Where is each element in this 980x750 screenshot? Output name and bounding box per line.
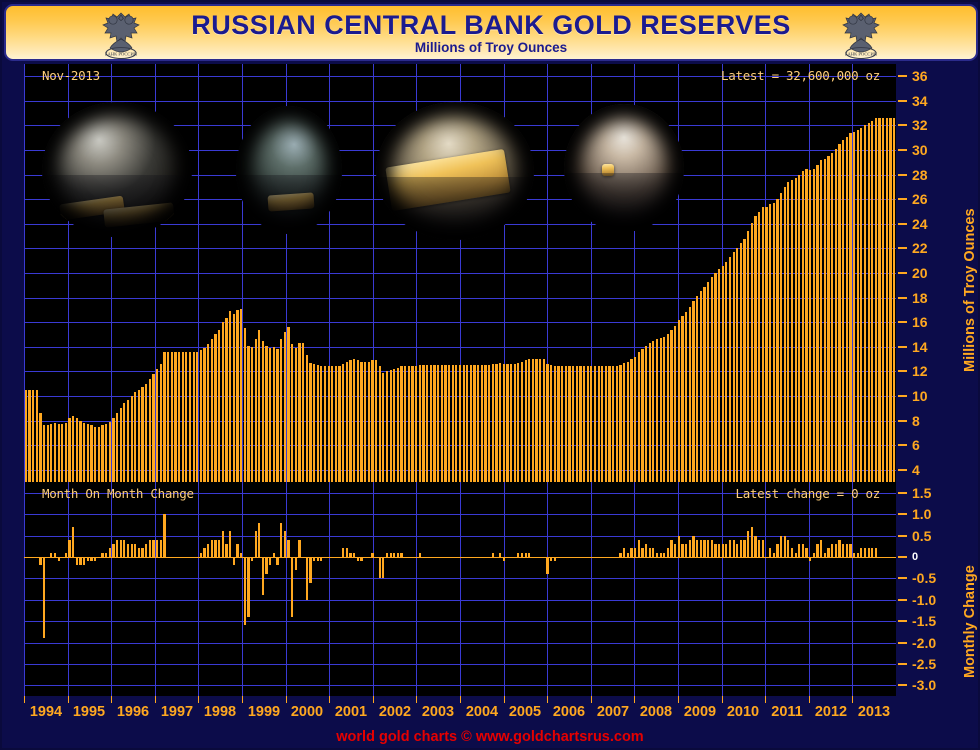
reserves-bar [229, 311, 231, 482]
reserves-bar [324, 366, 326, 482]
y-tick-mark [898, 444, 907, 446]
x-tick-mark [547, 696, 548, 703]
reserves-bar [886, 118, 888, 482]
monthly-change-bar [700, 540, 702, 557]
monthly-change-bar [229, 531, 231, 557]
reserves-bar [725, 262, 727, 482]
reserves-bar [346, 362, 348, 482]
reserves-bar [539, 359, 541, 482]
reserves-bar [565, 366, 567, 482]
reserves-bar [776, 199, 778, 482]
monthly-change-bar [703, 540, 705, 557]
y-tick-label: -3.0 [912, 677, 936, 693]
reserves-bar [608, 366, 610, 482]
monthly-change-bar [58, 557, 60, 561]
y-tick-label: 22 [912, 240, 928, 256]
monthly-change-bar [134, 544, 136, 557]
reserves-bar [160, 364, 162, 482]
monthly-change-bar [816, 544, 818, 557]
reserves-bar [740, 243, 742, 482]
reserves-bar [338, 366, 340, 482]
monthly-change-bar [820, 540, 822, 557]
reserves-bar [594, 366, 596, 482]
reserves-bar [287, 327, 289, 482]
reserves-bar [747, 231, 749, 482]
x-tick-label: 2009 [684, 704, 716, 720]
y-tick-mark [898, 100, 907, 102]
reserves-bar [265, 346, 267, 482]
reserves-bar [751, 223, 753, 482]
reserves-bar [765, 207, 767, 482]
monthly-change-bar [696, 540, 698, 557]
reserves-bar [718, 269, 720, 482]
monthly-change-bar [546, 557, 548, 574]
monthly-change-bar [776, 544, 778, 557]
x-tick-label: 1994 [30, 704, 62, 720]
reserves-bar [371, 360, 373, 482]
reserves-bar [495, 364, 497, 482]
reserves-bar [561, 366, 563, 482]
monthly-change-bar [152, 540, 154, 557]
monthly-change-bar [521, 553, 523, 557]
monthly-change-bar [718, 544, 720, 557]
monthly-change-bar [795, 553, 797, 557]
monthly-change-bar [853, 553, 855, 557]
reserves-bar [430, 365, 432, 482]
reserves-bar [68, 418, 70, 482]
monthly-change-bar [729, 540, 731, 557]
reserves-bar [893, 118, 895, 482]
reserves-bar [393, 369, 395, 482]
reserves-bar [630, 359, 632, 482]
monthly-change-bar [871, 548, 873, 557]
y-tick-label: 0 [912, 551, 918, 563]
monthly-change-bar [656, 553, 658, 557]
reserves-bar [805, 169, 807, 483]
reserves-bar [714, 273, 716, 482]
y-tick-label: 26 [912, 191, 928, 207]
monthly-change-bar [346, 548, 348, 557]
y-tick-label: 18 [912, 290, 928, 306]
x-tick-mark [24, 696, 25, 703]
reserves-bar [335, 366, 337, 482]
reserves-bar [43, 425, 45, 482]
x-tick-mark [155, 696, 156, 703]
reserves-bar [612, 366, 614, 482]
monthly-change-bar [685, 544, 687, 557]
reserves-bar [459, 365, 461, 482]
reserves-bar [703, 287, 705, 482]
monthly-change-bar [39, 557, 41, 566]
y-tick-label: 28 [912, 167, 928, 183]
monthly-change-bar [236, 544, 238, 557]
sub-panel-title: Month On Month Change [42, 486, 194, 501]
monthly-change-bar [638, 540, 640, 557]
reserves-bar [211, 339, 213, 482]
x-tick-label: 2011 [771, 704, 802, 720]
reserves-bar [645, 346, 647, 482]
reserves-bar [127, 400, 129, 482]
monthly-change-bar [141, 548, 143, 557]
reserves-bar [444, 365, 446, 482]
y-tick-label: -1.0 [912, 592, 936, 608]
monthly-change-bar [674, 544, 676, 557]
reserves-bar [452, 365, 454, 482]
monthly-change-bar [733, 540, 735, 557]
monthly-change-bar [525, 553, 527, 557]
monthly-change-bar [707, 540, 709, 557]
monthly-change-bar [244, 557, 246, 625]
reserves-bar [437, 365, 439, 482]
monthly-change-bars [24, 482, 896, 696]
monthly-change-bar [838, 540, 840, 557]
reserves-bar [152, 374, 154, 482]
monthly-change-bar [94, 557, 96, 561]
monthly-change-bar [769, 548, 771, 557]
monthly-change-bar [681, 544, 683, 557]
monthly-change-bar [670, 540, 672, 557]
reserves-bar [663, 337, 665, 482]
monthly-change-bar [207, 544, 209, 557]
y-tick-label: -2.0 [912, 635, 936, 651]
monthly-change-bar [306, 557, 308, 600]
page-title: RUSSIAN CENTRAL BANK GOLD RESERVES [6, 9, 976, 41]
y-tick-mark [898, 535, 907, 537]
monthly-change-bar [649, 548, 651, 557]
x-tick-label: 2012 [815, 704, 847, 720]
monthly-change-bar [627, 553, 629, 557]
reserves-bar [379, 366, 381, 482]
monthly-change-bar [780, 536, 782, 557]
reserves-bar [25, 390, 27, 482]
y-tick-mark [898, 297, 907, 299]
monthly-change-bar [120, 540, 122, 557]
reserves-bar [145, 384, 147, 482]
reserves-bar [455, 365, 457, 482]
reserves-bar [649, 343, 651, 482]
reserves-bar [616, 366, 618, 482]
reserves-bar [375, 360, 377, 482]
monthly-change-bar [645, 544, 647, 557]
y-tick-label: 4 [912, 462, 920, 478]
monthly-change-bar [295, 557, 297, 570]
y-tick-mark [898, 247, 907, 249]
latest-value-label: Latest = 32,600,000 oz [721, 68, 880, 83]
reserves-bar [90, 425, 92, 482]
reserves-bar [674, 326, 676, 482]
reserves-bar [284, 332, 286, 482]
x-tick-label: 1997 [161, 704, 193, 720]
x-tick-mark [416, 696, 417, 703]
reserves-bar [689, 307, 691, 482]
reserves-bar [65, 423, 67, 482]
reserves-bar [503, 364, 505, 482]
x-tick-mark [852, 696, 853, 703]
monthly-change-bar [87, 557, 89, 561]
y-tick-label: 32 [912, 117, 928, 133]
x-tick-label: 1998 [204, 704, 236, 720]
reserves-bar [214, 334, 216, 482]
y-tick-label: 0.5 [912, 528, 931, 544]
reserves-bar [83, 423, 85, 482]
latest-change-label: Latest change = 0 oz [735, 486, 880, 501]
monthly-change-bar [692, 536, 694, 557]
reserves-bar [174, 352, 176, 482]
reserves-bar [849, 133, 851, 482]
reserves-bar [736, 248, 738, 482]
x-tick-label: 2001 [335, 704, 367, 720]
y-axis-title-monthly-change: Monthly Change [962, 538, 978, 678]
reserves-bar [298, 343, 300, 482]
monthly-change-bar [145, 544, 147, 557]
x-tick-label: 2004 [466, 704, 498, 720]
x-tick-label: 1999 [248, 704, 280, 720]
svg-text:БАНК РОССИИ: БАНК РОССИИ [845, 52, 878, 57]
y-tick-mark [898, 370, 907, 372]
reserves-bar [79, 421, 81, 482]
reserves-bar [276, 349, 278, 482]
x-tick-label: 1995 [73, 704, 105, 720]
y-tick-mark [898, 642, 907, 644]
y-tick-mark [898, 198, 907, 200]
reserves-bar [619, 365, 621, 482]
reserves-bar [280, 339, 282, 482]
reserves-bar [473, 365, 475, 482]
monthly-change-bar [714, 544, 716, 557]
monthly-change-bar [233, 557, 235, 566]
reserves-bar [546, 364, 548, 482]
monthly-change-bar [156, 540, 158, 557]
reserves-bar [634, 357, 636, 482]
x-tick-mark [111, 696, 112, 703]
reserves-bar [499, 363, 501, 482]
monthly-change-bar [623, 548, 625, 557]
reserves-bar [295, 348, 297, 482]
monthly-change-bar [360, 557, 362, 561]
y-tick-label: 30 [912, 142, 928, 158]
reserves-bar [364, 362, 366, 482]
x-tick-mark [198, 696, 199, 703]
plot-area: Nov-2013 Latest = 32,600,000 oz Month On… [24, 64, 896, 696]
reserves-bar [313, 364, 315, 482]
reserves-bar [838, 144, 840, 482]
reserves-bar [791, 180, 793, 482]
reserves-bar [138, 390, 140, 482]
reserves-bar [795, 178, 797, 482]
reserves-bar [291, 344, 293, 482]
reserves-bar [50, 424, 52, 482]
y-tick-mark [898, 395, 907, 397]
reserves-bar [309, 363, 311, 482]
reserves-bar [328, 366, 330, 482]
monthly-change-bar [43, 557, 45, 638]
y-tick-mark [898, 513, 907, 515]
y-tick-label: -0.5 [912, 570, 936, 586]
reserves-bar [415, 366, 417, 482]
monthly-change-bar [357, 557, 359, 561]
monthly-change-bar [258, 523, 260, 557]
monthly-change-bar [211, 540, 213, 557]
reserves-bar [871, 121, 873, 482]
y-tick-label: -1.5 [912, 613, 936, 629]
reserves-bar [685, 312, 687, 482]
y-tick-mark [898, 663, 907, 665]
monthly-change-bar [740, 540, 742, 557]
reserves-bar [787, 182, 789, 482]
reserves-bar [758, 212, 760, 482]
reserves-bar [320, 366, 322, 482]
reserves-bar [517, 363, 519, 482]
reserves-bar [317, 365, 319, 482]
monthly-change-bar [849, 544, 851, 557]
reserves-bar [207, 344, 209, 482]
reserves-bar [39, 413, 41, 482]
reserves-bar [878, 118, 880, 482]
monthly-change-bar [163, 514, 165, 557]
monthly-change-bar [105, 553, 107, 557]
reserves-bar [400, 366, 402, 482]
reserves-bar [827, 156, 829, 482]
reserves-bar [846, 137, 848, 482]
monthly-change-bar [298, 540, 300, 557]
reserves-bar [598, 366, 600, 482]
x-tick-label: 2007 [597, 704, 629, 720]
monthly-change-bar [499, 553, 501, 557]
monthly-change-bar [320, 557, 322, 561]
reserves-bar [576, 366, 578, 482]
monthly-change-bar [313, 557, 315, 561]
y-tick-mark [898, 469, 907, 471]
reserves-bar [419, 365, 421, 482]
reserves-bar [112, 418, 114, 482]
reserves-bar [678, 320, 680, 482]
reserves-bar [521, 362, 523, 482]
reserves-bar [550, 365, 552, 482]
reserves-bar [572, 366, 574, 482]
monthly-change-bar [200, 553, 202, 557]
reserves-bar [269, 348, 271, 482]
reserves-bar [583, 366, 585, 482]
monthly-change-bar [660, 553, 662, 557]
monthly-change-bar [805, 548, 807, 557]
reserves-bar [357, 360, 359, 482]
reserves-bar [360, 362, 362, 482]
reserves-bar [875, 118, 877, 482]
reserves-bar [605, 366, 607, 482]
monthly-change-bar [109, 548, 111, 557]
reserves-bar [156, 369, 158, 482]
reserves-bar [105, 424, 107, 482]
reserves-bar [864, 125, 866, 482]
y-tick-label: 20 [912, 265, 928, 281]
reserves-bar [134, 392, 136, 482]
reserves-bar [525, 360, 527, 482]
reserves-bar [773, 203, 775, 482]
reserves-bar [200, 350, 202, 482]
reserves-bar [32, 390, 34, 482]
reserves-bar [331, 366, 333, 482]
monthly-change-bar [503, 557, 505, 561]
monthly-change-bar [419, 553, 421, 557]
reserves-bar [477, 365, 479, 482]
monthly-change-bar [864, 548, 866, 557]
monthly-change-bar [722, 544, 724, 557]
monthly-change-bar [291, 557, 293, 617]
x-tick-mark [373, 696, 374, 703]
reserves-bar [131, 396, 133, 482]
y-tick-mark [898, 420, 907, 422]
y-tick-label: 8 [912, 413, 920, 429]
reserves-bar [809, 170, 811, 482]
x-tick-label: 2008 [640, 704, 672, 720]
monthly-change-bar [240, 553, 242, 557]
reserves-bar [178, 352, 180, 482]
monthly-change-bar [798, 544, 800, 557]
reserves-bar [641, 349, 643, 482]
reserves-bar [532, 359, 534, 482]
reserves-bar [670, 330, 672, 482]
reserves-bar [251, 347, 253, 482]
y-tick-mark [898, 75, 907, 77]
reserves-bar [857, 130, 859, 482]
x-axis: 1994199519961997199819992000200120022003… [24, 696, 896, 728]
credit-line: world gold charts © www.goldchartsrus.co… [2, 729, 978, 745]
monthly-change-bar [743, 540, 745, 557]
monthly-change-bar [68, 540, 70, 557]
monthly-change-bar [76, 557, 78, 566]
monthly-change-bar [218, 540, 220, 557]
reserves-bar [733, 252, 735, 482]
x-tick-label: 2005 [509, 704, 541, 720]
reserves-bar [601, 366, 603, 482]
reserves-bar [780, 193, 782, 482]
reserves-bar [484, 365, 486, 482]
monthly-change-bar [50, 553, 52, 557]
monthly-change-bar [397, 553, 399, 557]
reserves-bar [244, 328, 246, 482]
y-tick-label: 36 [912, 68, 928, 84]
monthly-change-bar [265, 557, 267, 574]
monthly-change-bar [758, 540, 760, 557]
reserves-bar [163, 352, 165, 482]
reserves-bar [470, 365, 472, 482]
date-stamp: Nov-2013 [42, 68, 100, 83]
reserves-bar [627, 362, 629, 482]
monthly-change-bar [634, 548, 636, 557]
reserves-bar [386, 371, 388, 482]
monthly-change-bar [160, 540, 162, 557]
monthly-change-bar [276, 557, 278, 566]
monthly-change-bar [309, 557, 311, 583]
reserves-bar [141, 387, 143, 482]
monthly-change-bar [390, 553, 392, 557]
reserves-bar [681, 316, 683, 482]
reserves-bar [656, 339, 658, 482]
monthly-change-bar [528, 553, 530, 557]
reserves-bar [707, 282, 709, 482]
reserves-bar [262, 341, 264, 482]
reserves-bar [218, 330, 220, 482]
monthly-change-bar [79, 557, 81, 566]
monthly-change-bar [251, 557, 253, 561]
page-subtitle: Millions of Troy Ounces [6, 40, 976, 56]
monthly-change-bar [667, 548, 669, 557]
monthly-change-bar [273, 553, 275, 557]
y-tick-label: 1.5 [912, 485, 931, 501]
monthly-change-bar [342, 548, 344, 557]
y-tick-mark [898, 149, 907, 151]
x-tick-mark [765, 696, 766, 703]
